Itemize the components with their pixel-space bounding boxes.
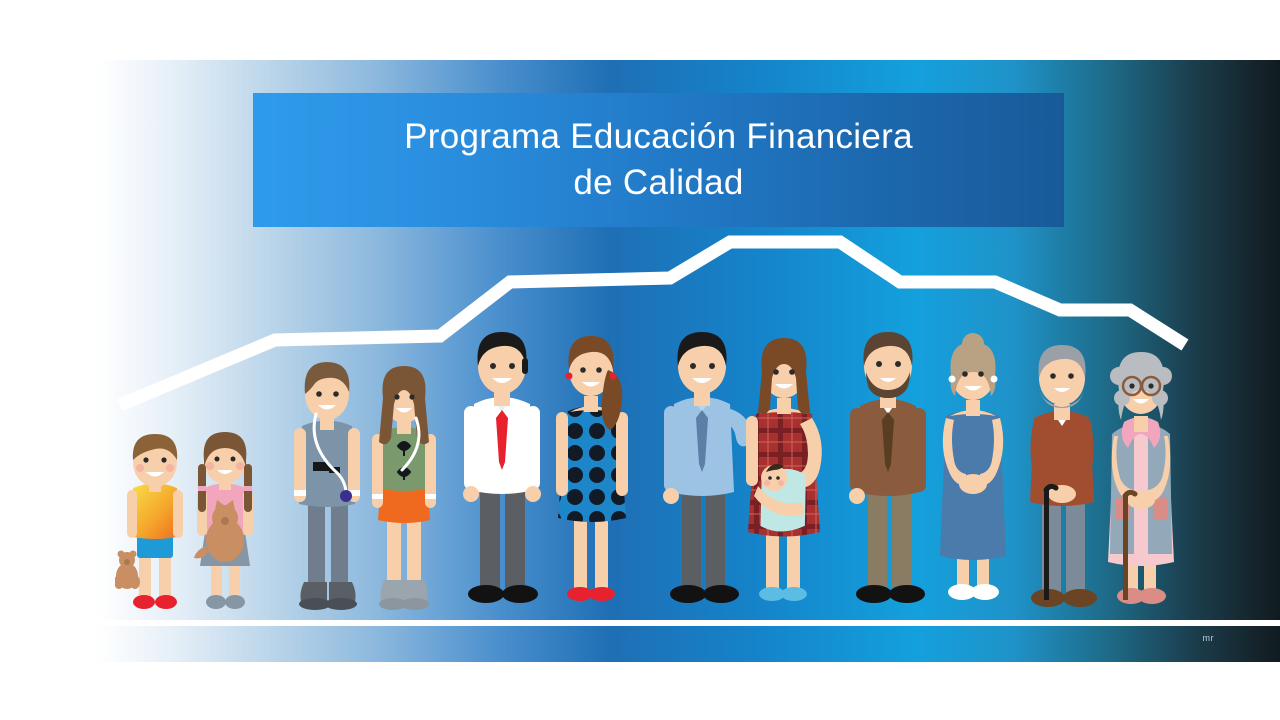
figure-young-man (452, 328, 552, 620)
figure-elder-woman (1086, 342, 1196, 620)
figure-mature-woman (922, 332, 1022, 620)
teddy-bear-toy (115, 551, 140, 590)
title-banner: Programa Educación Financiera de Calidad (253, 93, 1064, 227)
figure-young-woman (542, 332, 642, 620)
slide-root: Programa Educación Financiera de Calidad… (0, 0, 1280, 720)
figure-mother-with-baby (730, 332, 838, 620)
main-background-panel: Programa Educación Financiera de Calidad (60, 60, 1280, 620)
watermark-label: mr (1203, 633, 1215, 643)
bottom-accent-bar (60, 626, 1280, 662)
figure-teen-boy (282, 358, 372, 620)
figure-child-boy (115, 430, 195, 620)
page-title: Programa Educación Financiera de Calidad (404, 114, 913, 206)
figure-child-girl (185, 428, 265, 620)
figure-teen-girl (360, 362, 448, 620)
